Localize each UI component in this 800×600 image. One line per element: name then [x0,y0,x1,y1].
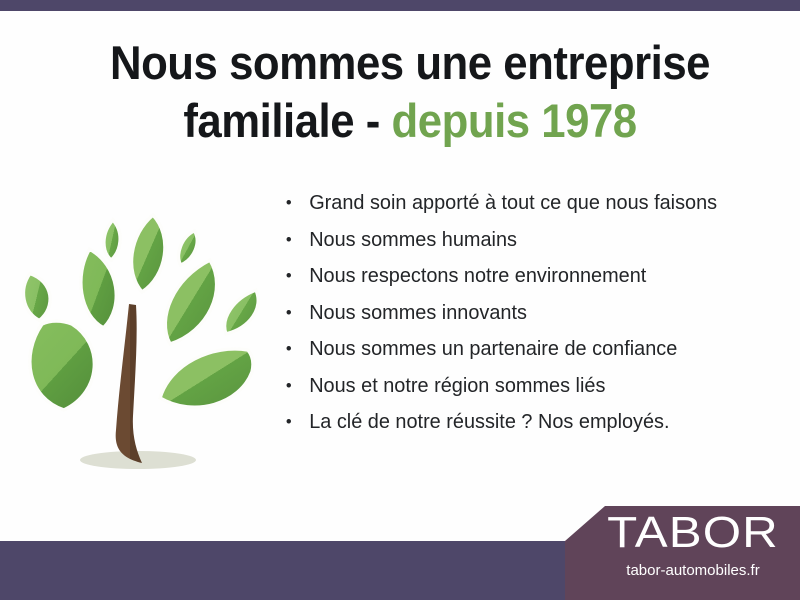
list-item: Nous sommes humains [283,227,768,253]
leaf-far-left [20,271,54,323]
list-item: Nous sommes un partenaire de confiance [283,336,768,362]
tree-trunk [116,304,142,463]
list-item: Nous et notre région sommes liés [283,373,768,399]
list-item: Nous sommes innovants [283,300,768,326]
leaf-far-right [225,290,259,334]
value-bullet-list: Grand soin apporté à tout ce que nous fa… [283,190,783,446]
list-item: La clé de notre réussite ? Nos employés. [283,409,768,435]
tabor-website-url: tabor-automobiles.fr [598,562,788,579]
leaf-top-small-left [101,219,122,261]
leaf-top-small-right [177,229,199,267]
tree-leaves [20,215,259,410]
list-item: Nous respectons notre environnement [283,263,768,289]
slide-canvas: Nous sommes une entreprise familiale - d… [0,0,800,600]
leaf-lower-left [30,321,95,410]
heading-line-2-plain: familiale - [183,94,391,147]
slide-heading: Nous sommes une entreprise familiale - d… [70,34,750,150]
leaf-lower-right [160,349,253,407]
heading-line-2: familiale - depuis 1978 [94,92,726,150]
leaf-upper-right [165,260,216,344]
heading-accent-text: depuis 1978 [392,94,637,147]
leaf-top-centre [131,215,164,292]
heading-line-1: Nous sommes une entreprise [94,34,726,92]
tabor-wordmark: TABOR [587,510,800,556]
tree-illustration [12,192,277,492]
list-item: Grand soin apporté à tout ce que nous fa… [283,190,768,216]
top-accent-bar [0,0,800,11]
